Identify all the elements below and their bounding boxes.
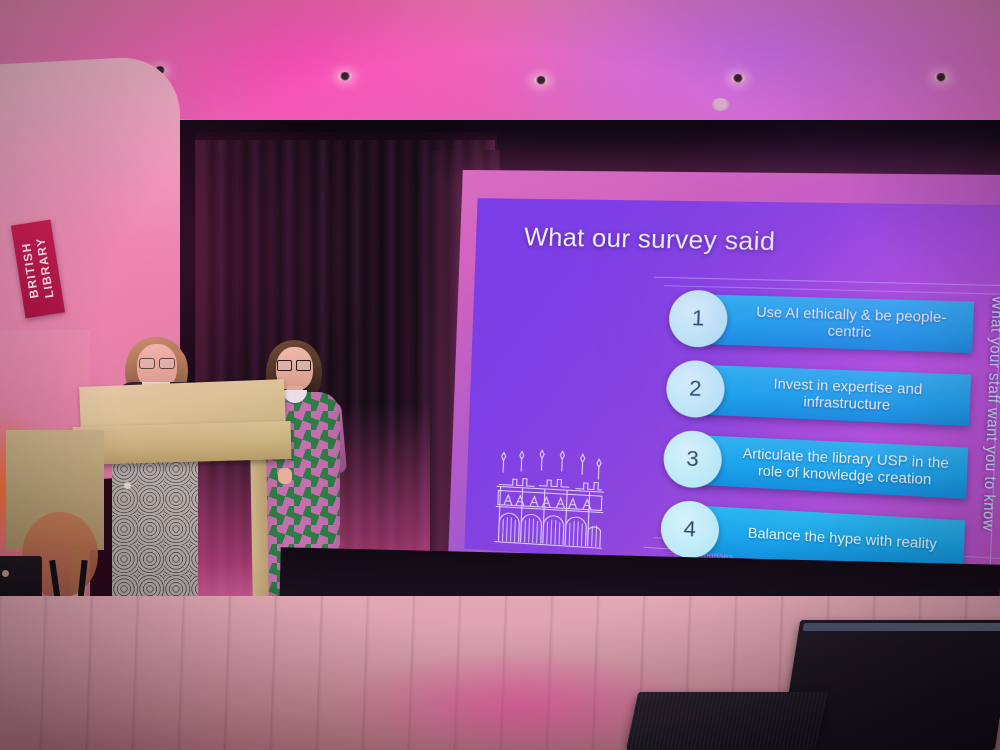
glasses-icon xyxy=(139,358,175,367)
ceiling-downlight-icon xyxy=(337,72,353,81)
slide-point-list: 1 Use AI ethically & be people-centric 2… xyxy=(659,289,974,584)
ceiling-downlight-icon xyxy=(730,74,746,83)
slide-title: What our survey said xyxy=(524,223,776,258)
glasses-icon xyxy=(277,360,311,369)
auditorium-presentation-photo: BRITISH LIBRARY What our survey said Wha… xyxy=(0,0,1000,750)
list-item: 2 Invest in expertise and infrastructure xyxy=(665,360,971,430)
point-text: Articulate the library USP in the role o… xyxy=(735,445,957,490)
podium-front-panel xyxy=(73,421,292,465)
point-bar: Use AI ethically & be people-centric xyxy=(706,295,974,354)
point-bar: Articulate the library USP in the role o… xyxy=(701,435,969,499)
point-bar: Invest in expertise and infrastructure xyxy=(703,365,971,426)
presentation-slide: What our survey said What your staff wan… xyxy=(464,198,1000,585)
point-text: Invest in expertise and infrastructure xyxy=(738,375,960,417)
status-led-icon xyxy=(2,570,9,577)
gothic-gate-icon xyxy=(492,442,607,549)
smoke-detector-icon xyxy=(712,98,729,111)
stage-monitor-speaker-secondary xyxy=(626,692,828,750)
list-item: 3 Articulate the library USP in the role… xyxy=(663,430,969,503)
ceiling-downlight-icon xyxy=(533,76,549,85)
point-text: Use AI ethically & be people-centric xyxy=(740,304,962,344)
hand xyxy=(278,468,292,484)
ceiling-downlight-icon xyxy=(933,73,949,82)
point-text: Balance the hype with reality xyxy=(747,525,937,553)
list-item: 1 Use AI ethically & be people-centric xyxy=(668,289,974,356)
